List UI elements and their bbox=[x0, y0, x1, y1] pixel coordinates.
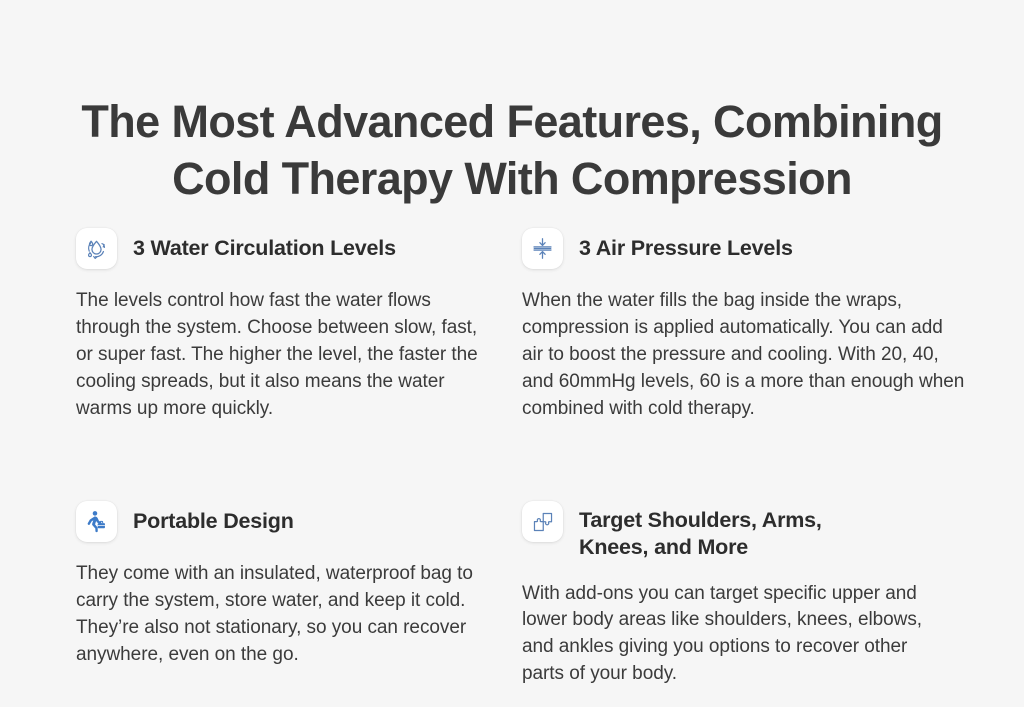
puzzle-pieces-icon bbox=[522, 501, 563, 542]
feature-title: 3 Water Circulation Levels bbox=[133, 235, 396, 262]
feature-title: Target Shoulders, Arms, Knees, and More bbox=[579, 501, 822, 561]
feature-description: When the water fills the bag inside the … bbox=[522, 288, 966, 422]
compression-arrows-icon bbox=[522, 228, 563, 269]
feature-description: The levels control how fast the water fl… bbox=[76, 288, 496, 422]
water-drop-circulation-icon bbox=[76, 228, 117, 269]
page-title: The Most Advanced Features, Combining Co… bbox=[0, 93, 1024, 207]
feature-description: With add-ons you can target specific upp… bbox=[522, 581, 946, 689]
feature-header: 3 Water Circulation Levels bbox=[76, 228, 522, 269]
feature-header: 3 Air Pressure Levels bbox=[522, 228, 966, 269]
feature-title: 3 Air Pressure Levels bbox=[579, 235, 793, 262]
walking-person-with-bag-icon bbox=[76, 501, 117, 542]
feature-card-target-areas: Target Shoulders, Arms, Knees, and More … bbox=[522, 501, 966, 707]
feature-highlights-page: The Most Advanced Features, Combining Co… bbox=[0, 0, 1024, 679]
feature-header: Target Shoulders, Arms, Knees, and More bbox=[522, 501, 966, 561]
feature-card-portable-design: Portable Design They come with an insula… bbox=[76, 501, 522, 707]
feature-card-air-pressure: 3 Air Pressure Levels When the water fil… bbox=[522, 228, 966, 441]
feature-title: Portable Design bbox=[133, 508, 294, 535]
page-title-line-1: The Most Advanced Features, Combining bbox=[0, 93, 1024, 150]
feature-description: They come with an insulated, waterproof … bbox=[76, 561, 492, 669]
feature-grid: 3 Water Circulation Levels The levels co… bbox=[76, 228, 966, 707]
feature-header: Portable Design bbox=[76, 501, 522, 542]
feature-card-water-circulation: 3 Water Circulation Levels The levels co… bbox=[76, 228, 522, 441]
page-title-line-2: Cold Therapy With Compression bbox=[0, 150, 1024, 207]
